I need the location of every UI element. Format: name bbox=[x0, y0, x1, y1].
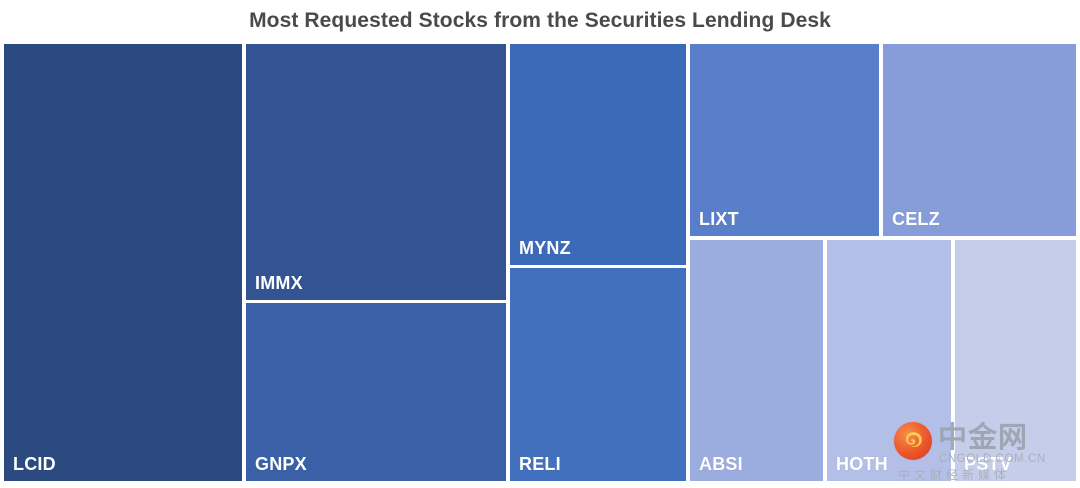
treemap-tile-label: RELI bbox=[519, 454, 561, 475]
treemap-tile-label: MYNZ bbox=[519, 238, 571, 259]
treemap-tile[interactable]: ABSI bbox=[690, 240, 823, 481]
treemap-tile-label: IMMX bbox=[255, 273, 303, 294]
treemap-tile-label: LCID bbox=[13, 454, 56, 475]
treemap-tile-label: GNPX bbox=[255, 454, 307, 475]
treemap-tile[interactable]: RELI bbox=[510, 268, 686, 481]
treemap-tile[interactable]: CELZ bbox=[883, 44, 1076, 236]
treemap-tile[interactable]: LIXT bbox=[690, 44, 879, 236]
treemap-tile[interactable]: MYNZ bbox=[510, 44, 686, 265]
treemap-tile-label: HOTH bbox=[836, 454, 888, 475]
chart-title: Most Requested Stocks from the Securitie… bbox=[0, 0, 1080, 42]
treemap-plot-area: LCIDIMMXGNPXMYNZRELILIXTCELZABSIHOTHPSTV bbox=[0, 42, 1080, 488]
treemap-tile-label: ABSI bbox=[699, 454, 743, 475]
treemap-tile-label: PSTV bbox=[964, 454, 1012, 475]
treemap-tile[interactable]: GNPX bbox=[246, 303, 506, 481]
treemap-tile-label: CELZ bbox=[892, 209, 940, 230]
treemap-tile[interactable]: LCID bbox=[4, 44, 242, 481]
treemap-tile[interactable]: IMMX bbox=[246, 44, 506, 300]
treemap-tile[interactable]: HOTH bbox=[827, 240, 951, 481]
treemap-tile[interactable]: PSTV bbox=[955, 240, 1076, 481]
treemap-chart: Most Requested Stocks from the Securitie… bbox=[0, 0, 1080, 488]
treemap-tile-label: LIXT bbox=[699, 209, 739, 230]
